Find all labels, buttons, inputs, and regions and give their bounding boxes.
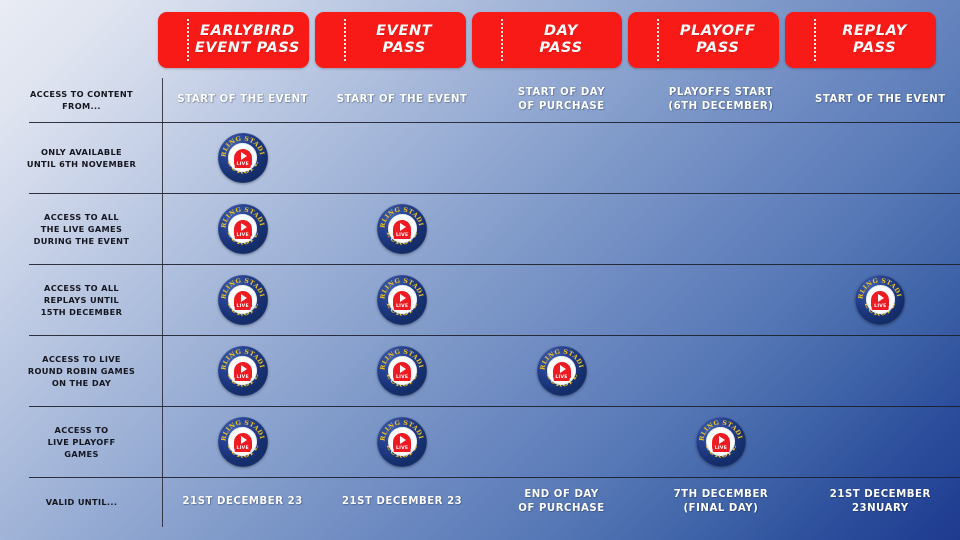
logo-live-badge: LIVE — [394, 374, 411, 381]
grid-row-access-to-live-round-robin-games: ACCESS TO LIVE ROUND ROBIN GAMES ON THE … — [0, 335, 960, 406]
ticket-playoff-pass[interactable]: PLAYOFF PASS — [628, 12, 779, 68]
curling-stadium-europe-logo: CURLING STADIUMEUROPELIVE — [218, 346, 268, 396]
cell-only-available-until-6th-november-replay-pass — [801, 122, 960, 193]
cell-valid-until-replay-pass: 21ST DECEMBER 23NUARY — [801, 477, 960, 527]
row-label-text: ONLY AVAILABLE UNTIL 6TH NOVEMBER — [27, 146, 136, 170]
curling-stadium-europe-logo: CURLING STADIUMEUROPELIVE — [218, 417, 268, 467]
row-label-text: ACCESS TO LIVE PLAYOFF GAMES — [48, 424, 116, 460]
row-label-text: ACCESS TO CONTENT FROM... — [12, 88, 151, 112]
curling-stadium-europe-logo: CURLING STADIUMEUROPELIVE — [696, 417, 746, 467]
row-label-access-to-all-replays: ACCESS TO ALL REPLAYS UNTIL 15TH DECEMBE… — [0, 264, 163, 335]
ticket-perforation — [187, 19, 189, 61]
logo-live-badge: LIVE — [713, 445, 730, 452]
logo-inner-disc: LIVE — [228, 143, 257, 172]
pass-ticket-header: EARLYBIRD EVENT PASSEVENT PASSDAY PASSPL… — [158, 12, 936, 68]
cell-access-to-all-live-games-earlybird-event-pass: CURLING STADIUMEUROPELIVE — [163, 193, 322, 264]
grid-row-only-available-until-6th-november: ONLY AVAILABLE UNTIL 6TH NOVEMBERCURLING… — [0, 122, 960, 193]
cell-access-to-live-round-robin-games-replay-pass — [801, 335, 960, 406]
cell-access-to-live-playoff-games-playoff-pass: CURLING STADIUMEUROPELIVE — [641, 406, 800, 477]
ticket-label: PLAYOFF PASS — [660, 23, 779, 57]
cell-valid-until-playoff-pass: 7TH DECEMBER (FINAL DAY) — [641, 477, 800, 527]
curling-stadium-europe-logo: CURLING STADIUMEUROPELIVE — [218, 204, 268, 254]
curling-stadium-europe-logo: CURLING STADIUMEUROPELIVE — [537, 346, 587, 396]
row-cells: CURLING STADIUMEUROPELIVECURLING STADIUM… — [163, 264, 960, 335]
cell-access-to-all-replays-replay-pass: CURLING STADIUMEUROPELIVE — [801, 264, 960, 335]
row-cells: 21ST DECEMBER 2321ST DECEMBER 23END OF D… — [163, 477, 960, 527]
grid-row-access-to-content-from: ACCESS TO CONTENT FROM...START OF THE EV… — [0, 78, 960, 122]
row-cells: CURLING STADIUMEUROPELIVE — [163, 122, 960, 193]
cell-access-to-all-live-games-event-pass: CURLING STADIUMEUROPELIVE — [322, 193, 481, 264]
curling-stadium-europe-logo: CURLING STADIUMEUROPELIVE — [377, 417, 427, 467]
cell-text: 7TH DECEMBER (FINAL DAY) — [674, 488, 769, 516]
curling-stadium-europe-logo: CURLING STADIUMEUROPELIVE — [218, 275, 268, 325]
cell-text: END OF DAY OF PURCHASE — [518, 488, 604, 516]
cell-valid-until-earlybird-event-pass: 21ST DECEMBER 23 — [163, 477, 322, 527]
cell-access-to-content-from-day-pass: START OF DAY OF PURCHASE — [482, 78, 641, 122]
cell-access-to-content-from-earlybird-event-pass: START OF THE EVENT — [163, 78, 322, 122]
play-icon — [400, 365, 406, 373]
cell-text: 21ST DECEMBER 23 — [342, 495, 462, 509]
curling-stadium-europe-logo: CURLING STADIUMEUROPELIVE — [377, 275, 427, 325]
cell-only-available-until-6th-november-playoff-pass — [641, 122, 800, 193]
logo-inner-disc: LIVE — [388, 427, 417, 456]
row-cells: CURLING STADIUMEUROPELIVECURLING STADIUM… — [163, 193, 960, 264]
logo-live-badge: LIVE — [234, 303, 251, 310]
cell-valid-until-event-pass: 21ST DECEMBER 23 — [322, 477, 481, 527]
cell-access-to-live-round-robin-games-day-pass: CURLING STADIUMEUROPELIVE — [482, 335, 641, 406]
row-cells: CURLING STADIUMEUROPELIVECURLING STADIUM… — [163, 335, 960, 406]
logo-live-badge: LIVE — [234, 445, 251, 452]
row-label-text: ACCESS TO ALL THE LIVE GAMES DURING THE … — [34, 211, 130, 247]
cell-access-to-all-live-games-playoff-pass — [641, 193, 800, 264]
cell-text: START OF THE EVENT — [815, 93, 946, 107]
cell-valid-until-day-pass: END OF DAY OF PURCHASE — [482, 477, 641, 527]
play-icon — [241, 365, 247, 373]
ticket-label: DAY PASS — [504, 23, 623, 57]
ticket-replay-pass[interactable]: REPLAY PASS — [785, 12, 936, 68]
logo-inner-disc: LIVE — [388, 356, 417, 385]
cell-only-available-until-6th-november-earlybird-event-pass: CURLING STADIUMEUROPELIVE — [163, 122, 322, 193]
ticket-perforation — [814, 19, 816, 61]
cell-text: 21ST DECEMBER 23 — [183, 495, 303, 509]
ticket-day-pass[interactable]: DAY PASS — [472, 12, 623, 68]
row-cells: CURLING STADIUMEUROPELIVECURLING STADIUM… — [163, 406, 960, 477]
play-icon — [878, 294, 884, 302]
row-label-access-to-live-playoff-games: ACCESS TO LIVE PLAYOFF GAMES — [0, 406, 163, 477]
play-icon — [241, 223, 247, 231]
cell-access-to-all-replays-day-pass — [482, 264, 641, 335]
logo-live-badge: LIVE — [394, 445, 411, 452]
logo-live-badge: LIVE — [394, 303, 411, 310]
ticket-earlybird-event-pass[interactable]: EARLYBIRD EVENT PASS — [158, 12, 309, 68]
play-icon — [400, 294, 406, 302]
play-icon — [560, 365, 566, 373]
row-label-only-available-until-6th-november: ONLY AVAILABLE UNTIL 6TH NOVEMBER — [0, 122, 163, 193]
cell-only-available-until-6th-november-day-pass — [482, 122, 641, 193]
cell-access-to-live-round-robin-games-earlybird-event-pass: CURLING STADIUMEUROPELIVE — [163, 335, 322, 406]
cell-access-to-all-live-games-day-pass — [482, 193, 641, 264]
cell-access-to-all-replays-event-pass: CURLING STADIUMEUROPELIVE — [322, 264, 481, 335]
row-cells: START OF THE EVENTSTART OF THE EVENTSTAR… — [163, 78, 960, 122]
row-label-access-to-content-from: ACCESS TO CONTENT FROM... — [0, 78, 163, 122]
cell-access-to-live-playoff-games-replay-pass — [801, 406, 960, 477]
row-label-text: ACCESS TO ALL REPLAYS UNTIL 15TH DECEMBE… — [41, 282, 123, 318]
logo-inner-disc: LIVE — [866, 285, 895, 314]
logo-inner-disc: LIVE — [228, 285, 257, 314]
row-label-valid-until: VALID UNTIL... — [0, 477, 163, 527]
play-icon — [719, 436, 725, 444]
curling-stadium-europe-logo: CURLING STADIUMEUROPELIVE — [377, 346, 427, 396]
play-icon — [241, 436, 247, 444]
curling-stadium-europe-logo: CURLING STADIUMEUROPELIVE — [218, 133, 268, 183]
cell-access-to-live-playoff-games-event-pass: CURLING STADIUMEUROPELIVE — [322, 406, 481, 477]
cell-access-to-all-live-games-replay-pass — [801, 193, 960, 264]
logo-inner-disc: LIVE — [388, 285, 417, 314]
logo-live-badge: LIVE — [872, 303, 889, 310]
curling-stadium-europe-logo: CURLING STADIUMEUROPELIVE — [377, 204, 427, 254]
ticket-perforation — [501, 19, 503, 61]
curling-stadium-europe-logo: CURLING STADIUMEUROPELIVE — [855, 275, 905, 325]
cell-text: START OF DAY OF PURCHASE — [518, 86, 605, 114]
cell-access-to-live-playoff-games-earlybird-event-pass: CURLING STADIUMEUROPELIVE — [163, 406, 322, 477]
play-icon — [241, 294, 247, 302]
logo-inner-disc: LIVE — [228, 427, 257, 456]
ticket-perforation — [657, 19, 659, 61]
ticket-event-pass[interactable]: EVENT PASS — [315, 12, 466, 68]
cell-access-to-all-replays-playoff-pass — [641, 264, 800, 335]
grid-row-valid-until: VALID UNTIL...21ST DECEMBER 2321ST DECEM… — [0, 477, 960, 527]
row-label-text: VALID UNTIL... — [46, 496, 118, 508]
row-label-access-to-live-round-robin-games: ACCESS TO LIVE ROUND ROBIN GAMES ON THE … — [0, 335, 163, 406]
ticket-perforation — [344, 19, 346, 61]
row-label-text: ACCESS TO LIVE ROUND ROBIN GAMES ON THE … — [28, 353, 135, 389]
grid-row-access-to-all-replays: ACCESS TO ALL REPLAYS UNTIL 15TH DECEMBE… — [0, 264, 960, 335]
play-icon — [400, 223, 406, 231]
cell-text: START OF THE EVENT — [177, 93, 308, 107]
cell-access-to-all-replays-earlybird-event-pass: CURLING STADIUMEUROPELIVE — [163, 264, 322, 335]
cell-access-to-live-playoff-games-day-pass — [482, 406, 641, 477]
ticket-label: EARLYBIRD EVENT PASS — [190, 23, 309, 57]
cell-access-to-live-round-robin-games-event-pass: CURLING STADIUMEUROPELIVE — [322, 335, 481, 406]
cell-text: 21ST DECEMBER 23NUARY — [801, 488, 960, 516]
cell-access-to-content-from-event-pass: START OF THE EVENT — [322, 78, 481, 122]
cell-text: START OF THE EVENT — [337, 93, 468, 107]
grid-row-access-to-all-live-games: ACCESS TO ALL THE LIVE GAMES DURING THE … — [0, 193, 960, 264]
play-icon — [400, 436, 406, 444]
logo-inner-disc: LIVE — [228, 356, 257, 385]
logo-live-badge: LIVE — [234, 374, 251, 381]
row-label-access-to-all-live-games: ACCESS TO ALL THE LIVE GAMES DURING THE … — [0, 193, 163, 264]
cell-access-to-content-from-replay-pass: START OF THE EVENT — [801, 78, 960, 122]
cell-only-available-until-6th-november-event-pass — [322, 122, 481, 193]
ticket-label: EVENT PASS — [347, 23, 466, 57]
cell-text: PLAYOFFS START (6TH DECEMBER) — [668, 86, 773, 114]
grid-row-access-to-live-playoff-games: ACCESS TO LIVE PLAYOFF GAMESCURLING STAD… — [0, 406, 960, 477]
logo-inner-disc: LIVE — [228, 214, 257, 243]
logo-live-badge: LIVE — [553, 374, 570, 381]
logo-inner-disc: LIVE — [547, 356, 576, 385]
play-icon — [241, 152, 247, 160]
logo-inner-disc: LIVE — [388, 214, 417, 243]
cell-access-to-live-round-robin-games-playoff-pass — [641, 335, 800, 406]
logo-live-badge: LIVE — [394, 232, 411, 239]
ticket-label: REPLAY PASS — [817, 23, 936, 57]
pass-comparison-grid: ACCESS TO CONTENT FROM...START OF THE EV… — [0, 78, 960, 540]
logo-live-badge: LIVE — [234, 161, 251, 168]
logo-live-badge: LIVE — [234, 232, 251, 239]
cell-access-to-content-from-playoff-pass: PLAYOFFS START (6TH DECEMBER) — [641, 78, 800, 122]
